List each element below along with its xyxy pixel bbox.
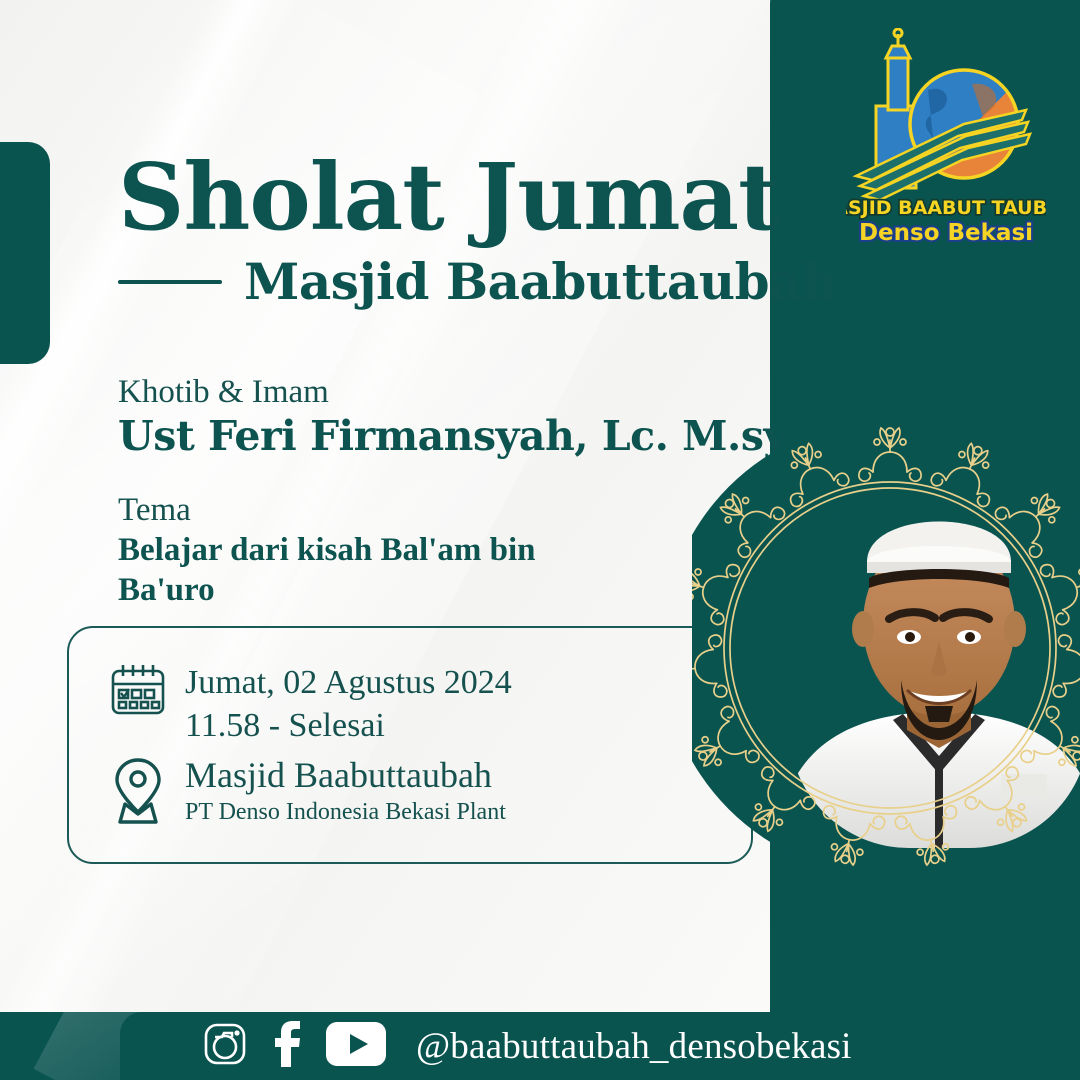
speaker-portrait-group	[692, 418, 1080, 878]
speaker-name: Ust Feri Firmansyah, Lc. M.sy	[118, 412, 787, 460]
event-date: Jumat, 02 Agustus 2024	[185, 662, 512, 705]
logo-line-1: MASJID BAABUT TAUBAH	[846, 197, 1046, 219]
footer-bar: @baabuttaubah_densobekasi	[120, 1012, 1080, 1080]
event-venue: Masjid Baabuttaubah	[185, 754, 506, 797]
page-subtitle: Masjid Baabuttaubah	[244, 252, 837, 311]
speaker-block: Khotib & Imam Ust Feri Firmansyah, Lc. M…	[118, 374, 787, 460]
theme-line-2: Ba'uro	[118, 570, 535, 610]
theme-block: Tema Belajar dari kisah Bal'am bin Ba'ur…	[118, 492, 535, 610]
event-venue-detail: PT Denso Indonesia Bekasi Plant	[185, 797, 506, 828]
organization-logo: MASJID BAABUT TAUBAH Denso Bekasi	[846, 28, 1046, 250]
title-divider-dash	[118, 280, 222, 284]
social-handle: @baabuttaubah_densobekasi	[416, 1025, 852, 1068]
social-icons	[202, 1021, 386, 1072]
youtube-icon[interactable]	[326, 1022, 386, 1071]
gold-ornamental-frame	[692, 418, 1080, 878]
speaker-label: Khotib & Imam	[118, 374, 787, 412]
event-location-row: Masjid Baabuttaubah PT Denso Indonesia B…	[109, 754, 506, 831]
theme-label: Tema	[118, 492, 535, 530]
left-accent-tab	[0, 142, 50, 364]
instagram-icon[interactable]	[202, 1021, 248, 1072]
logo-line-2: Denso Bekasi	[859, 220, 1033, 246]
map-pin-icon	[109, 754, 167, 831]
headline-group: Sholat Jumat Masjid Baabuttaubah	[118, 152, 837, 311]
event-time: 11.58 - Selesai	[185, 705, 512, 748]
calendar-check-icon	[109, 662, 167, 725]
facebook-icon[interactable]	[270, 1021, 304, 1072]
theme-line-1: Belajar dari kisah Bal'am bin	[118, 530, 535, 570]
poster-canvas: Sholat Jumat Masjid Baabuttaubah Khotib …	[0, 0, 1080, 1080]
event-info-box: Jumat, 02 Agustus 2024 11.58 - Selesai M…	[67, 626, 753, 864]
event-location-text: Masjid Baabuttaubah PT Denso Indonesia B…	[185, 754, 506, 828]
event-date-row: Jumat, 02 Agustus 2024 11.58 - Selesai	[109, 662, 512, 747]
event-date-text: Jumat, 02 Agustus 2024 11.58 - Selesai	[185, 662, 512, 747]
page-title: Sholat Jumat	[118, 152, 837, 242]
subtitle-row: Masjid Baabuttaubah	[118, 252, 837, 311]
